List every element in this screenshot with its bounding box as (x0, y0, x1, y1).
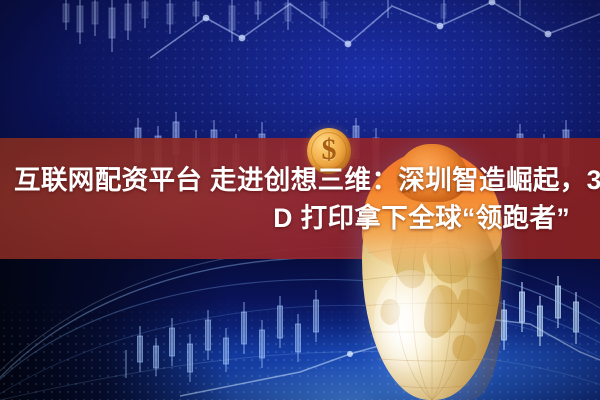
promo-banner: $ $ 互联网配资平台 走进创想三维：深圳智造崛起，3 D 打印拿下全球“领跑者… (0, 0, 600, 400)
headline-line-2: D 打印拿下全球“领跑者” (273, 199, 584, 237)
headline-block: 互联网配资平台 走进创想三维：深圳智造崛起，3 D 打印拿下全球“领跑者” (0, 141, 600, 256)
headline-line-1: 互联网配资平台 走进创想三维：深圳智造崛起，3 (10, 161, 600, 199)
globe-highlight (374, 270, 448, 374)
